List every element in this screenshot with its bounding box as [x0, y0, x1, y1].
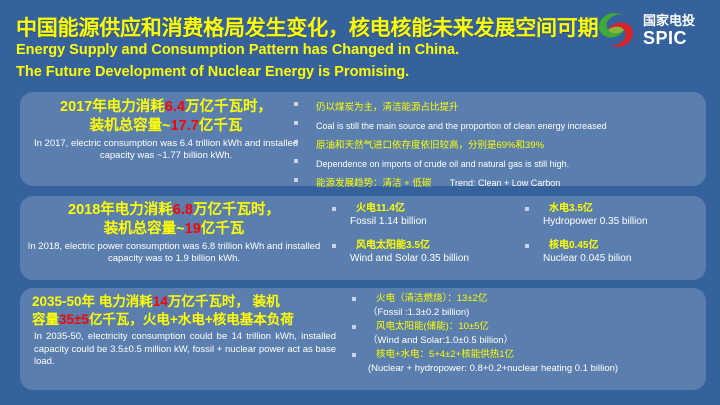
page-title-chinese: 中国能源供应和消费格局发生变化，核电核能未来发展空间可期	[16, 12, 598, 42]
breakdown-cn: 核电0.45亿	[543, 239, 706, 252]
highlight-value: 17.7	[171, 118, 199, 134]
highlight-value: 19	[185, 221, 201, 237]
panel-2018-en-summary: In 2018, electric power consumption was …	[24, 241, 324, 266]
text-seg: 亿千瓦	[199, 118, 243, 134]
panel-2017-summary: 2017年电力消耗6.4万亿千瓦时， 装机总容量~17.7亿千瓦 In 2017…	[30, 98, 302, 163]
bullet-square-icon	[294, 159, 298, 163]
bullet-square-icon	[332, 244, 336, 248]
list-item: 能源发展趋势：清洁 + 低碳 Trend: Clean + Low Carbon	[282, 173, 706, 191]
panel-2035-cn-line1: 2035-50年 电力消耗14万亿千瓦时， 装机	[24, 293, 342, 311]
breakdown-cn: 风电太阳能(储能)：10±5亿	[368, 320, 706, 334]
bullet-text-cn: 原油和天然气进口依存度依旧较高，分别是69%和39%	[316, 140, 544, 151]
bullet-text-cn: 仍以煤炭为主，清洁能源占比提升	[316, 102, 459, 113]
spic-swirl-icon	[594, 8, 638, 52]
text-seg: 装机总容量~	[104, 221, 185, 237]
list-item: 风电太阳能(储能)：10±5亿 （Wind and Solar:1.0±0.5 …	[342, 320, 706, 347]
text-seg: 2035-50年 电力消耗	[32, 294, 153, 309]
text-seg: 万亿千瓦时， 装机	[168, 294, 280, 309]
list-item: 风电太阳能3.5亿 Wind and Solar 0.35 billion	[320, 239, 513, 266]
spic-logo-english: SPIC	[643, 29, 695, 47]
list-item: Coal is still the main source and the pr…	[282, 116, 706, 134]
panel-2017: 2017年电力消耗6.4万亿千瓦时， 装机总容量~17.7亿千瓦 In 2017…	[20, 92, 706, 186]
breakdown-cn: 火电11.4亿	[350, 202, 513, 215]
highlight-value: 6.4	[165, 99, 185, 115]
spic-logo-chinese: 国家电投	[643, 14, 695, 27]
bullet-text-en: Trend: Clean + Low Carbon	[450, 178, 560, 188]
panel-2018-breakdown: 火电11.4亿 Fossil 1.14 billion 风电太阳能3.5亿 Wi…	[320, 202, 706, 276]
panel-2035-2050: 2035-50年 电力消耗14万亿千瓦时， 装机 容量35±5亿千瓦，火电+水电…	[20, 288, 706, 390]
highlight-value: 14	[153, 294, 168, 309]
panel-2035-breakdown: 火电（清洁燃烧）：13±2亿 （Fossil :1.3±0.2 billion)…	[342, 292, 706, 376]
page-subtitle-english-2: The Future Development of Nuclear Energy…	[16, 64, 409, 80]
breakdown-column-right: 水电3.5亿 Hydropower 0.35 billion 核电0.45亿 N…	[513, 202, 706, 276]
breakdown-en: Nuclear 0.045 bilion	[543, 252, 706, 266]
panel-2017-en-summary: In 2017, electric consumption was 6.4 tr…	[30, 138, 302, 163]
panel-2017-bullets: 仍以煤炭为主，清洁能源占比提升 Coal is still the main s…	[282, 97, 706, 192]
breakdown-en: (Nuclear + hydropower: 0.8+0.2+nuclear h…	[368, 362, 706, 376]
panel-2017-cn-line1: 2017年电力消耗6.4万亿千瓦时，	[30, 98, 302, 117]
spic-logo-text: 国家电投 SPIC	[643, 14, 695, 47]
slide-root: 中国能源供应和消费格局发生变化，核电核能未来发展空间可期 Energy Supp…	[0, 0, 720, 405]
text-seg: 亿千瓦，火电+水电+核电基本负荷	[89, 312, 294, 327]
bullet-square-icon	[352, 353, 356, 357]
breakdown-en: Wind and Solar 0.35 billion	[350, 252, 513, 266]
panel-2017-cn-line2: 装机总容量~17.7亿千瓦	[30, 117, 302, 136]
bullet-square-icon	[525, 207, 529, 211]
bullet-square-icon	[294, 121, 298, 125]
list-item: Dependence on imports of crude oil and n…	[282, 154, 706, 172]
panel-2018: 2018年电力消耗6.8万亿千瓦时， 装机总容量~19亿千瓦 In 2018, …	[20, 196, 706, 280]
text-seg: 万亿千瓦时，	[185, 99, 272, 115]
bullet-square-icon	[294, 140, 298, 144]
breakdown-en: （Fossil :1.3±0.2 billion)	[368, 306, 706, 320]
bullet-text-en: Coal is still the main source and the pr…	[316, 121, 607, 131]
bullet-text-cn: 能源发展趋势：清洁 + 低碳	[316, 178, 431, 189]
panel-2018-cn-line1: 2018年电力消耗6.8万亿千瓦时，	[24, 201, 324, 220]
breakdown-cn: 风电太阳能3.5亿	[350, 239, 513, 252]
breakdown-cn: 核电+水电：5+4±2+核能供热1亿	[368, 348, 706, 362]
panel-2018-cn-line2: 装机总容量~19亿千瓦	[24, 220, 324, 239]
list-item: 火电（清洁燃烧）：13±2亿 （Fossil :1.3±0.2 billion)	[342, 292, 706, 319]
breakdown-en: Fossil 1.14 billion	[350, 215, 513, 229]
spic-logo: 国家电投 SPIC	[594, 7, 712, 53]
breakdown-en: Hydropower 0.35 billion	[543, 215, 706, 229]
text-seg: 万亿千瓦时，	[193, 202, 280, 218]
breakdown-en: （Wind and Solar:1.0±0.5 billion）	[368, 334, 706, 348]
breakdown-cn: 火电（清洁燃烧）：13±2亿	[368, 292, 706, 306]
text-seg: 2017年电力消耗	[60, 99, 165, 115]
text-seg: 装机总容量~	[90, 118, 171, 134]
list-item: 火电11.4亿 Fossil 1.14 billion	[320, 202, 513, 229]
panel-2018-summary: 2018年电力消耗6.8万亿千瓦时， 装机总容量~19亿千瓦 In 2018, …	[24, 201, 324, 266]
highlight-value: 35±5	[59, 312, 89, 327]
panel-2035-cn-line2: 容量35±5亿千瓦，火电+水电+核电基本负荷	[24, 311, 342, 329]
bullet-square-icon	[352, 297, 356, 301]
bullet-square-icon	[294, 102, 298, 106]
breakdown-column-left: 火电11.4亿 Fossil 1.14 billion 风电太阳能3.5亿 Wi…	[320, 202, 513, 276]
breakdown-cn: 水电3.5亿	[543, 202, 706, 215]
text-seg: 2018年电力消耗	[68, 202, 173, 218]
slide-header: 中国能源供应和消费格局发生变化，核电核能未来发展空间可期 Energy Supp…	[0, 0, 720, 86]
list-item: 水电3.5亿 Hydropower 0.35 billion	[513, 202, 706, 229]
text-seg: 亿千瓦	[201, 221, 245, 237]
bullet-text-en: Dependence on imports of crude oil and n…	[316, 159, 569, 169]
text-seg: 容量	[32, 312, 59, 327]
list-item: 核电+水电：5+4±2+核能供热1亿 (Nuclear + hydropower…	[342, 348, 706, 375]
panel-2035-summary: 2035-50年 电力消耗14万亿千瓦时， 装机 容量35±5亿千瓦，火电+水电…	[24, 293, 342, 369]
bullet-square-icon	[352, 325, 356, 329]
bullet-square-icon	[294, 178, 298, 182]
page-subtitle-english-1: Energy Supply and Consumption Pattern ha…	[16, 42, 459, 58]
bullet-square-icon	[525, 244, 529, 248]
bullet-square-icon	[332, 207, 336, 211]
list-item: 核电0.45亿 Nuclear 0.045 bilion	[513, 239, 706, 266]
highlight-value: 6.8	[173, 202, 193, 218]
panel-2035-en-summary: In 2035-50, electricity consumption coul…	[24, 329, 342, 369]
list-item: 原油和天然气进口依存度依旧较高，分别是69%和39%	[282, 135, 706, 153]
list-item: 仍以煤炭为主，清洁能源占比提升	[282, 97, 706, 115]
